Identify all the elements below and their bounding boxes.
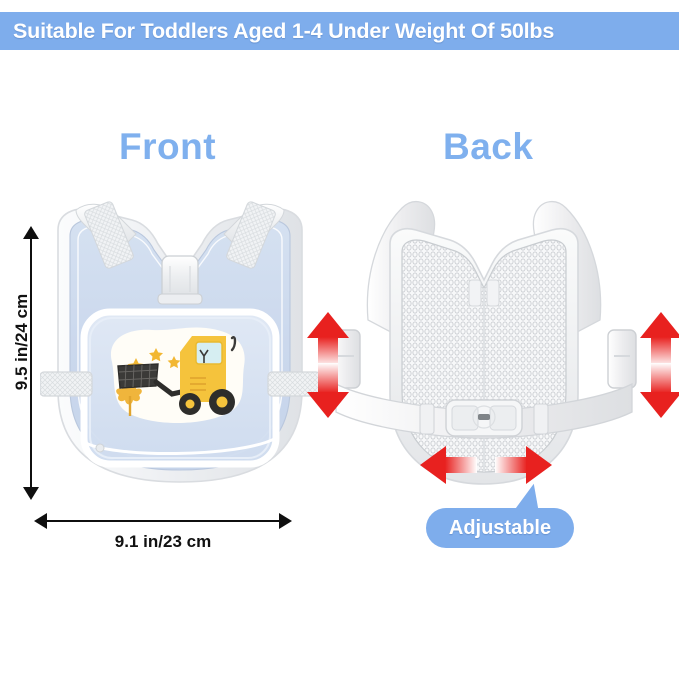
header-banner: Suitable For Toddlers Aged 1-4 Under Wei… — [0, 12, 679, 50]
front-zipper-pull — [96, 444, 104, 452]
buckle-right-wing — [490, 406, 516, 430]
horizontal-adjust-arrow-waist — [420, 446, 552, 484]
vertical-adjust-arrow-left — [307, 312, 349, 418]
back-right-top-tab — [487, 280, 499, 306]
adjustable-callout: Adjustable — [426, 508, 574, 548]
buckle-release-slot — [478, 414, 490, 420]
height-dimension-label: 9.5 in/24 cm — [12, 282, 32, 402]
front-left-side-strap — [40, 372, 92, 396]
front-view-caption: Front — [119, 126, 216, 168]
product-image-canvas: Suitable For Toddlers Aged 1-4 Under Wei… — [0, 0, 679, 679]
belt-keeper-left — [420, 404, 434, 434]
front-chest-clip-base — [158, 294, 202, 304]
adjustable-callout-label: Adjustable — [449, 517, 551, 540]
buckle-left-wing — [452, 406, 478, 430]
vertical-adjust-arrow-right — [640, 312, 679, 418]
belt-keeper-right — [534, 404, 548, 434]
right-strap-slider — [608, 330, 636, 388]
front-vest-illustration — [40, 190, 320, 510]
header-banner-text: Suitable For Toddlers Aged 1-4 Under Wei… — [0, 19, 554, 44]
width-dimension-arrow — [34, 512, 292, 530]
width-dimension-label: 9.1 in/23 cm — [34, 532, 292, 552]
back-left-top-tab — [469, 280, 481, 306]
back-view-caption: Back — [443, 126, 533, 168]
